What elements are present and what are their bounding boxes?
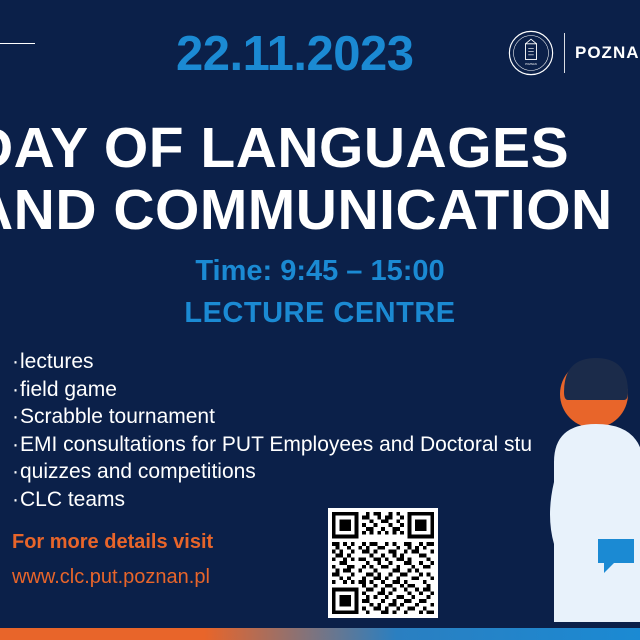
list-item-label: CLC teams <box>20 488 125 511</box>
cta-text: For more details visit <box>12 531 213 554</box>
clc-logo-divider <box>0 43 35 44</box>
event-date: 22.11.2023 <box>176 26 414 82</box>
list-item-label: Scrabble tournament <box>20 405 215 428</box>
qr-code[interactable] <box>328 508 438 618</box>
logo-divider <box>564 33 565 73</box>
page-title: DAY OF LANGUAGES AND COMMUNICATION <box>0 118 640 240</box>
list-item-label: quizzes and competitions <box>20 460 256 483</box>
bullet-icon: · <box>12 486 19 514</box>
bullet-icon: · <box>12 376 19 404</box>
clc-logo-line2: UNICATION <box>0 47 92 53</box>
university-name: POZNAN <box>575 43 640 63</box>
bullet-icon: · <box>12 403 19 431</box>
bullet-icon: · <box>12 348 19 376</box>
clc-logo-line1: KÓW <box>0 26 92 40</box>
qr-code-image <box>328 508 438 618</box>
speech-bubble-icon <box>594 533 638 577</box>
bullet-icon: · <box>12 431 19 459</box>
university-seal-icon: POZNAN <box>508 30 554 76</box>
list-item-label: lectures <box>20 350 94 373</box>
university-logo: POZNAN POZNAN <box>508 30 640 76</box>
list-item-label: EMI consultations for PUT Employees and … <box>20 433 532 456</box>
headline-line-1: DAY OF LANGUAGES <box>0 118 640 178</box>
headline-line-2: AND COMMUNICATION <box>0 180 640 240</box>
svg-text:POZNAN: POZNAN <box>525 62 536 66</box>
event-venue: LECTURE CENTRE <box>0 297 640 330</box>
bullet-icon: · <box>12 458 19 486</box>
clc-logo: KÓW UNICATION <box>0 26 92 53</box>
poster-canvas: KÓW UNICATION 22.11.2023 POZNAN POZNAN D… <box>0 0 640 640</box>
person-illustration <box>524 352 640 622</box>
footer-color-bar <box>0 628 640 640</box>
event-time: Time: 9:45 – 15:00 <box>0 255 640 288</box>
website-url[interactable]: www.clc.put.poznan.pl <box>12 566 210 589</box>
list-item-label: field game <box>20 378 117 401</box>
